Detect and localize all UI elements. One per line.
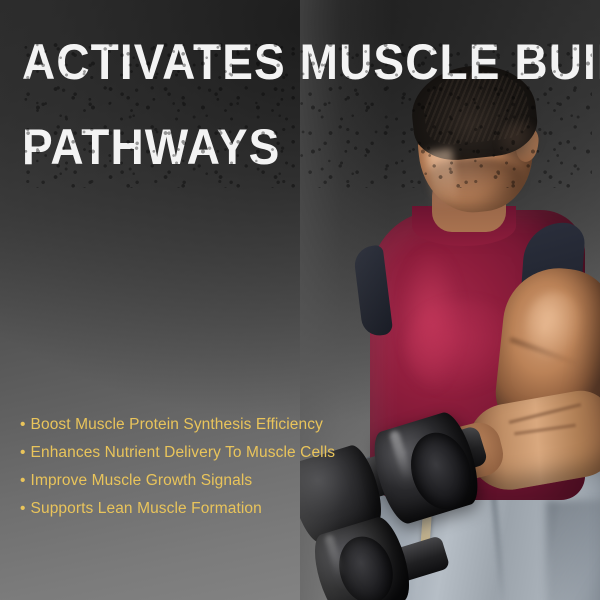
benefit-label: Boost Muscle Protein Synthesis Efficienc…	[31, 416, 323, 433]
bicep-highlight	[526, 292, 584, 362]
bullet-icon: •	[20, 444, 26, 461]
bullet-icon: •	[20, 416, 26, 433]
benefit-item: •Improve Muscle Growth Signals	[20, 467, 380, 495]
shorts-side-shadow	[546, 500, 600, 600]
benefit-label: Enhances Nutrient Delivery To Muscle Cel…	[31, 444, 336, 461]
bullet-icon: •	[20, 472, 26, 489]
benefit-label: Supports Lean Muscle Formation	[31, 500, 262, 517]
bullet-icon: •	[20, 500, 26, 517]
benefits-list: •Boost Muscle Protein Synthesis Efficien…	[20, 411, 380, 523]
headline-line-1: ACTIVATES MUSCLE BUILDING	[22, 38, 539, 87]
benefit-label: Improve Muscle Growth Signals	[31, 472, 253, 489]
fitness-promo-poster: ACTIVATES MUSCLE BUILDING PATHWAYS •Boos…	[0, 0, 600, 600]
headline: ACTIVATES MUSCLE BUILDING PATHWAYS	[22, 38, 539, 172]
benefit-item: •Boost Muscle Protein Synthesis Efficien…	[20, 411, 380, 439]
benefit-item: •Enhances Nutrient Delivery To Muscle Ce…	[20, 439, 380, 467]
headline-line-2: PATHWAYS	[22, 123, 539, 172]
benefit-item: •Supports Lean Muscle Formation	[20, 495, 380, 523]
